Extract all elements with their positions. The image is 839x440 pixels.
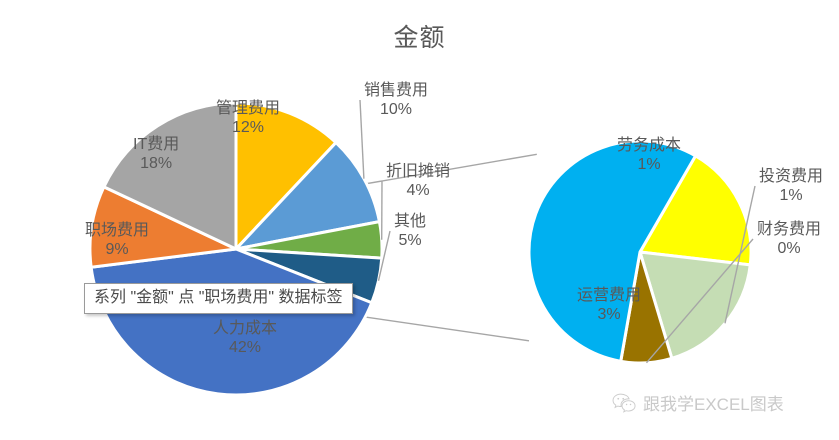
watermark: 跟我学EXCEL图表 [612, 390, 784, 415]
wechat-icon [612, 392, 636, 413]
pie-of-pie-chart: 金额 管理费用12%销售费用10%折旧摊销4%其他5%人力成本42%职场费用9%… [0, 0, 839, 440]
main-pie-leader-line [360, 100, 364, 179]
chart-plot-area[interactable] [0, 0, 839, 440]
main-pie-series[interactable] [90, 103, 382, 395]
watermark-label: 跟我学EXCEL图表 [643, 390, 784, 415]
secondary-pie-series[interactable] [529, 141, 751, 363]
chart-tooltip: 系列 "金额" 点 "职场费用" 数据标签 [84, 283, 353, 314]
